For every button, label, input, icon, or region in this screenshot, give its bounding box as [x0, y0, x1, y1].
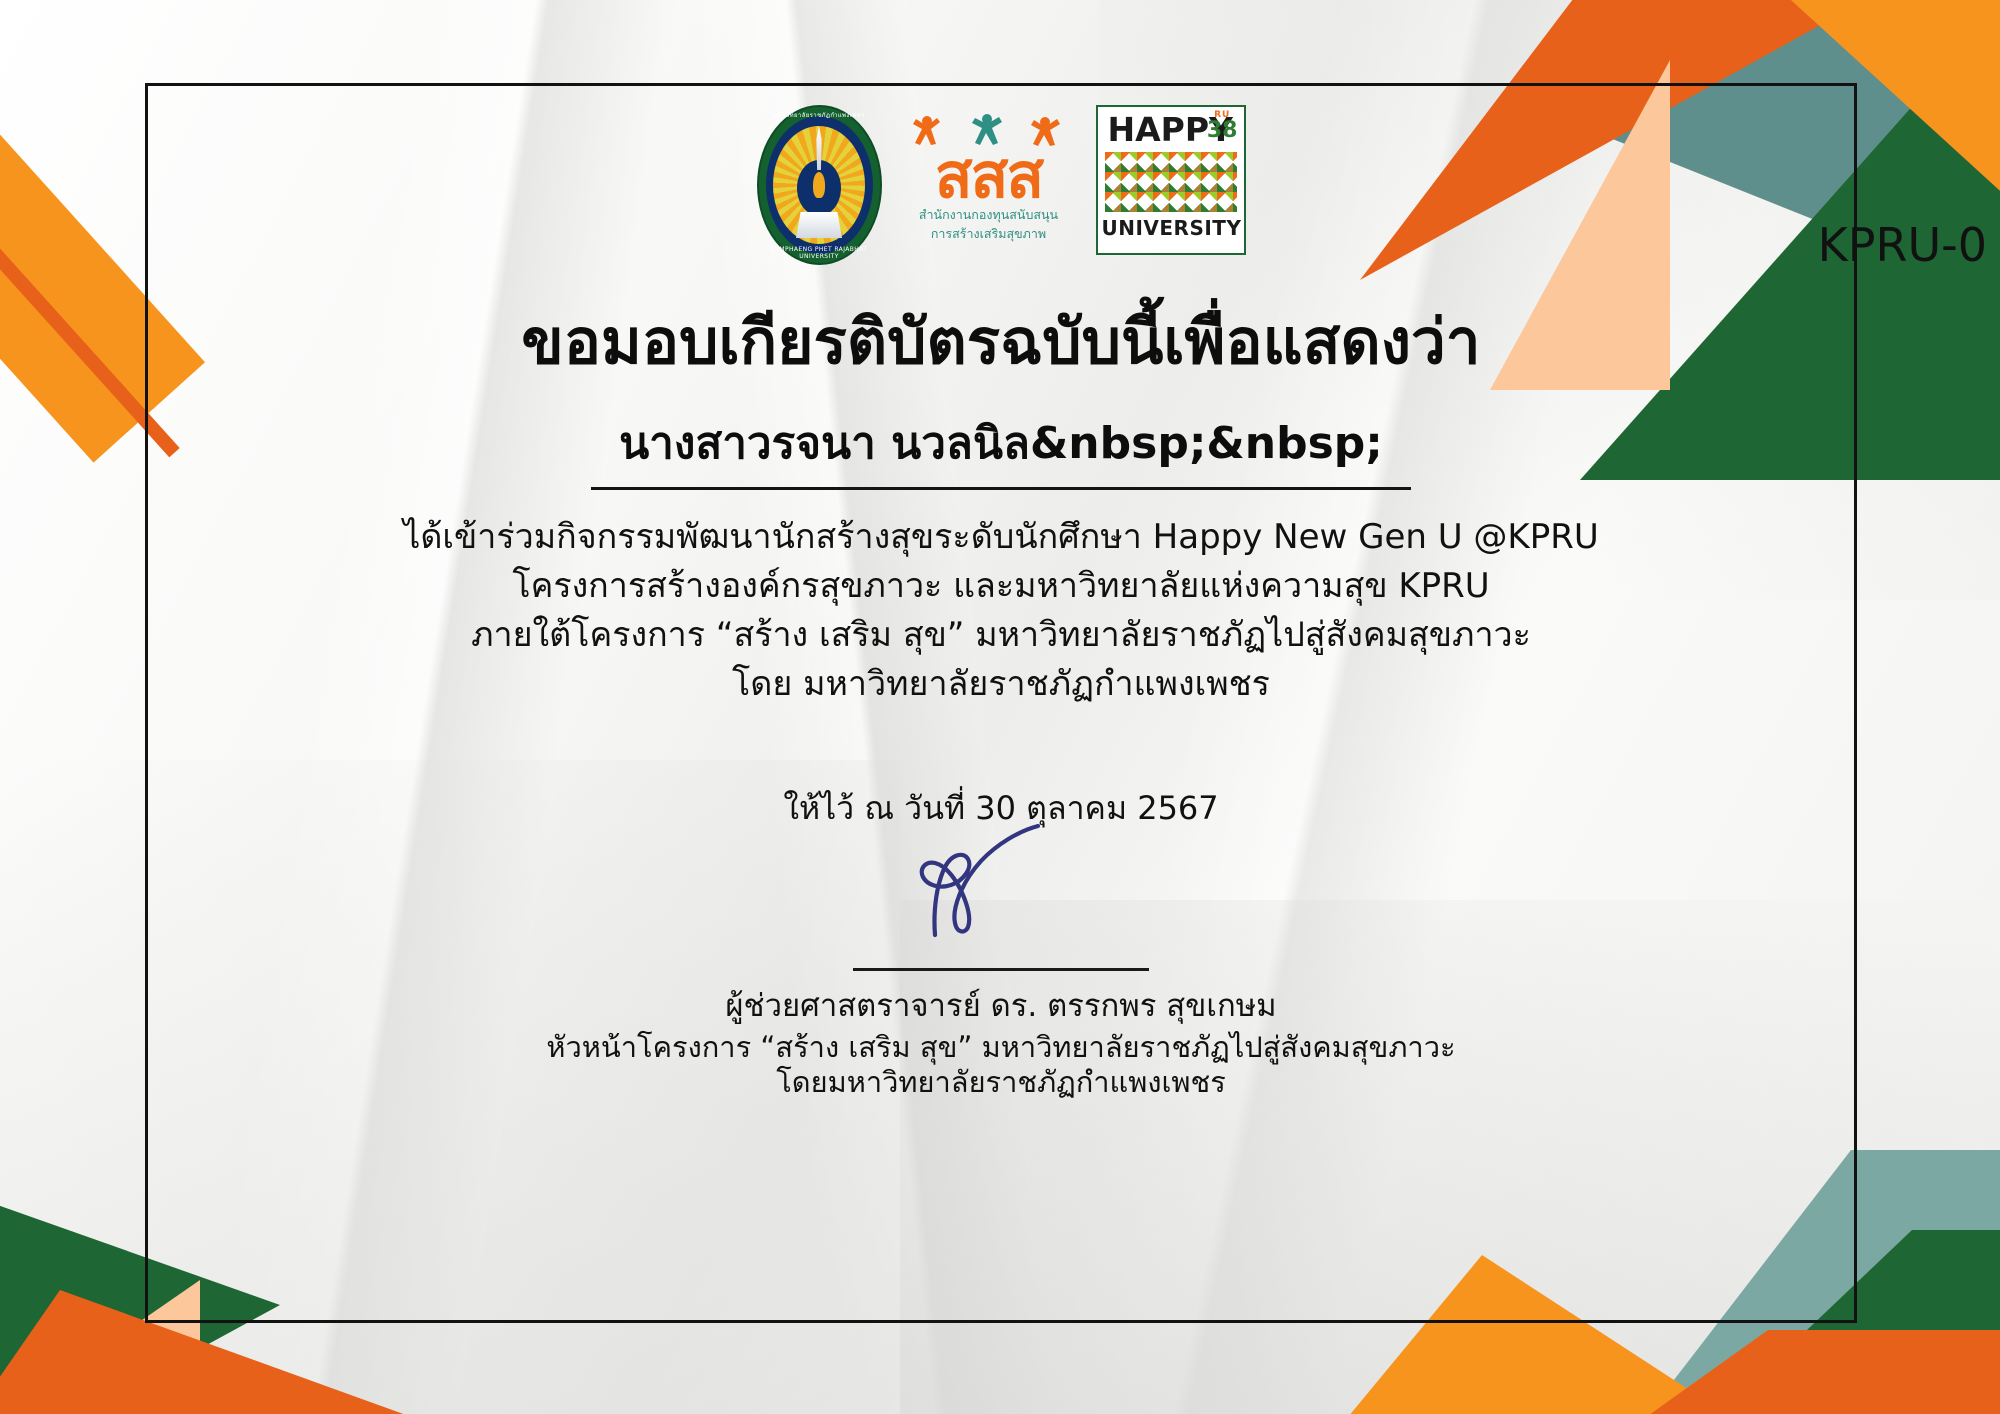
sss-people-icon — [904, 113, 1074, 147]
certificate-content: มหาวิทยาลัยราชภัฏกำแพงเพชร KAMPHAENG PHE… — [145, 83, 1857, 1323]
seal-flame-icon — [813, 172, 825, 198]
seal-inner-disc — [766, 116, 873, 254]
body-line: ภายใต้โครงการ “สร้าง เสริม สุข” มหาวิทยา… — [145, 611, 1857, 660]
kpru-seal-logo: มหาวิทยาลัยราชภัฏกำแพงเพชร KAMPHAENG PHE… — [757, 105, 882, 265]
happy-triangles-pattern-icon — [1105, 152, 1237, 212]
sss-logo: สสส สำนักงานกองทุนสนับสนุน การสร้างเสริม… — [904, 105, 1074, 242]
certificate-body: ได้เข้าร่วมกิจกรรมพัฒนานักสร้างสุขระดับน… — [145, 513, 1857, 709]
seal-text-bottom: KAMPHAENG PHET RAJABHAT UNIVERSITY — [757, 246, 882, 260]
ru-badge-number: 38 — [1207, 120, 1238, 142]
logo-row: มหาวิทยาลัยราชภัฏกำแพงเพชร KAMPHAENG PHE… — [145, 105, 1857, 265]
sss-subtitle-line-2: การสร้างเสริมสุขภาพ — [904, 226, 1074, 242]
certificate-headline: ขอมอบเกียรติบัตรฉบับนี้เพื่อแสดงว่า — [145, 293, 1857, 391]
body-line: โดย มหาวิทยาลัยราชภัฏกำแพงเพชร — [145, 660, 1857, 709]
signer-role-line-2: โดยมหาวิทยาลัยราชภัฏกำแพงเพชร — [145, 1065, 1857, 1100]
signature-underline — [853, 968, 1149, 971]
recipient-name: นางสาวรจนา นวลนิล&nbsp;&nbsp; — [145, 408, 1857, 478]
seal-text-top: มหาวิทยาลัยราชภัฏกำแพงเพชร — [757, 110, 882, 120]
signature-icon — [145, 823, 1857, 943]
signer-name: ผู้ช่วยศาสตราจารย์ ดร. ตรรกพร สุขเกษม — [145, 983, 1857, 1030]
signer-block: ผู้ช่วยศาสตราจารย์ ดร. ตรรกพร สุขเกษม หั… — [145, 983, 1857, 1100]
happy-word-bottom: UNIVERSITY — [1102, 216, 1240, 240]
ru38-badge-icon: RU 38 — [1207, 111, 1238, 142]
seal-pagoda-base-icon — [796, 212, 842, 238]
body-line: ได้เข้าร่วมกิจกรรมพัฒนานักสร้างสุขระดับน… — [145, 513, 1857, 562]
signature-area — [145, 823, 1857, 943]
body-line: โครงการสร้างองค์กรสุขภาวะ และมหาวิทยาลัย… — [145, 562, 1857, 611]
certificate-page: มหาวิทยาลัยราชภัฏกำแพงเพชร KAMPHAENG PHE… — [0, 0, 2000, 1414]
happy-university-logo: RU 38 HAPPY UNIVERSITY — [1096, 105, 1246, 255]
sss-subtitle-line-1: สำนักงานกองทุนสนับสนุน — [904, 207, 1074, 223]
recipient-underline — [591, 487, 1411, 490]
signer-role-line-1: หัวหน้าโครงการ “สร้าง เสริม สุข” มหาวิทย… — [145, 1030, 1857, 1065]
certificate-code: KPRU-0 — [1818, 218, 1987, 272]
sss-wordmark: สสส — [904, 147, 1074, 204]
